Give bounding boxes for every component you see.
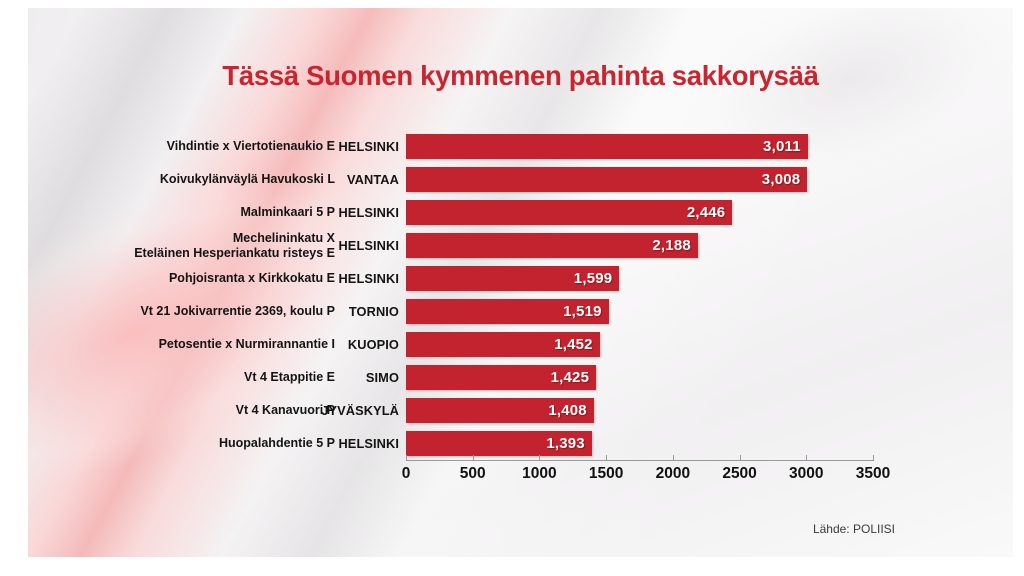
chart-row: Vihdintie x Viertotienaukio EHELSINKI3,0… — [28, 130, 1013, 163]
location-label: Petosentie x Nurmirannantie I — [159, 328, 335, 361]
bar[interactable]: 1,425 — [406, 365, 596, 390]
bar[interactable]: 2,188 — [406, 233, 698, 258]
bar-value-label: 3,008 — [762, 171, 801, 188]
x-axis-tick-mark — [806, 455, 807, 461]
city-label: TORNIO — [349, 295, 399, 328]
bar[interactable]: 1,452 — [406, 332, 600, 357]
x-axis-tick-mark — [873, 455, 874, 461]
location-label-line: Pohjoisranta x Kirkkokatu E — [169, 271, 335, 286]
x-axis-tick-label: 3000 — [789, 465, 823, 483]
infographic-chart-panel: Tässä Suomen kymmenen pahinta sakkorysää… — [28, 8, 1013, 557]
bar[interactable]: 3,011 — [406, 134, 808, 159]
location-label-line: Koivukylänväylä Havukoski L — [160, 172, 335, 187]
location-label: Huopalahdentie 5 P — [219, 427, 335, 460]
chart-row: Huopalahdentie 5 PHELSINKI1,393 — [28, 427, 1013, 460]
bar-value-label: 1,393 — [546, 435, 585, 452]
bar[interactable]: 1,393 — [406, 431, 592, 456]
bar-value-label: 3,011 — [763, 138, 801, 155]
location-label-line: Eteläinen Hesperiankatu risteys E — [134, 246, 335, 261]
location-label: Mechelininkatu XEteläinen Hesperiankatu … — [134, 229, 335, 262]
chart-row: Vt 4 Kanavuori PJYVÄSKYLÄ1,408 — [28, 394, 1013, 427]
city-label: JYVÄSKYLÄ — [321, 394, 399, 427]
source-attribution: Lähde: POLIISI — [28, 522, 1013, 536]
chart-row: Petosentie x Nurmirannantie IKUOPIO1,452 — [28, 328, 1013, 361]
location-label: Malminkaari 5 P — [241, 196, 336, 229]
chart-row: Vt 21 Jokivarrentie 2369, koulu PTORNIO1… — [28, 295, 1013, 328]
location-label: Vt 4 Etappitie E — [244, 361, 335, 394]
x-axis-tick-label: 1000 — [522, 465, 556, 483]
city-label: HELSINKI — [338, 229, 399, 262]
chart-row: Mechelininkatu XEteläinen Hesperiankatu … — [28, 229, 1013, 262]
location-label-line: Petosentie x Nurmirannantie I — [159, 337, 335, 352]
location-label-line: Huopalahdentie 5 P — [219, 436, 335, 451]
city-label: HELSINKI — [338, 262, 399, 295]
bar[interactable]: 1,599 — [406, 266, 619, 291]
city-label: HELSINKI — [338, 427, 399, 460]
x-axis-tick-label: 500 — [460, 465, 486, 483]
chart-row: Koivukylänväylä Havukoski LVANTAA3,008 — [28, 163, 1013, 196]
location-label-line: Malminkaari 5 P — [241, 205, 336, 220]
chart-content: Tässä Suomen kymmenen pahinta sakkorysää… — [28, 8, 1013, 557]
x-axis-tick-label: 2000 — [656, 465, 690, 483]
chart-title: Tässä Suomen kymmenen pahinta sakkorysää — [28, 60, 1013, 92]
x-axis-tick-mark — [673, 455, 674, 461]
location-label: Vihdintie x Viertotienaukio E — [167, 130, 335, 163]
x-axis: 0500100015002000250030003500 — [406, 460, 873, 500]
chart-row: Pohjoisranta x Kirkkokatu EHELSINKI1,599 — [28, 262, 1013, 295]
city-label: VANTAA — [347, 163, 399, 196]
x-axis-tick-mark — [406, 455, 407, 461]
location-label-line: Vt 21 Jokivarrentie 2369, koulu P — [140, 304, 335, 319]
x-axis-tick-mark — [606, 455, 607, 461]
location-label: Vt 21 Jokivarrentie 2369, koulu P — [140, 295, 335, 328]
city-label: HELSINKI — [338, 196, 399, 229]
bar[interactable]: 3,008 — [406, 167, 807, 192]
city-label: HELSINKI — [338, 130, 399, 163]
city-label: KUOPIO — [348, 328, 399, 361]
location-label-line: Vt 4 Kanavuori P — [236, 403, 335, 418]
bar[interactable]: 1,408 — [406, 398, 594, 423]
location-label: Koivukylänväylä Havukoski L — [160, 163, 335, 196]
x-axis-tick-mark — [740, 455, 741, 461]
x-axis-tick-label: 3500 — [856, 465, 890, 483]
x-axis-tick-mark — [539, 455, 540, 461]
bar-value-label: 1,425 — [551, 369, 590, 386]
x-axis-line — [406, 460, 873, 461]
x-axis-tick-label: 0 — [402, 465, 411, 483]
location-label-line: Vihdintie x Viertotienaukio E — [167, 139, 335, 154]
location-label: Vt 4 Kanavuori P — [236, 394, 335, 427]
x-axis-tick-label: 2500 — [722, 465, 756, 483]
x-axis-tick-label: 1500 — [589, 465, 623, 483]
location-label-line: Vt 4 Etappitie E — [244, 370, 335, 385]
bar-chart-plot-area: Vihdintie x Viertotienaukio EHELSINKI3,0… — [28, 130, 1013, 470]
bar-value-label: 2,188 — [652, 237, 691, 254]
bar-value-label: 1,408 — [548, 402, 587, 419]
bar-value-label: 1,452 — [554, 336, 593, 353]
bar[interactable]: 1,519 — [406, 299, 609, 324]
chart-row: Vt 4 Etappitie ESIMO1,425 — [28, 361, 1013, 394]
city-label: SIMO — [366, 361, 399, 394]
location-label: Pohjoisranta x Kirkkokatu E — [169, 262, 335, 295]
bar-value-label: 1,599 — [574, 270, 613, 287]
x-axis-tick-mark — [473, 455, 474, 461]
chart-row: Malminkaari 5 PHELSINKI2,446 — [28, 196, 1013, 229]
bar-value-label: 1,519 — [563, 303, 602, 320]
bar-value-label: 2,446 — [687, 204, 726, 221]
location-label-line: Mechelininkatu X — [233, 231, 335, 246]
bar[interactable]: 2,446 — [406, 200, 732, 225]
